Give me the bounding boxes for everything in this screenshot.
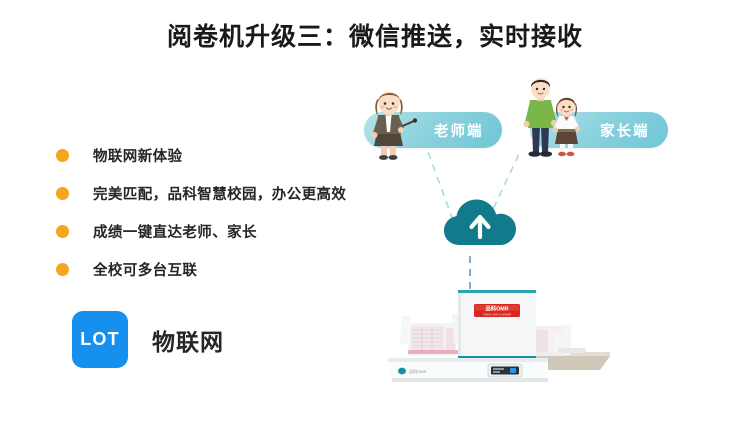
bullet-dot-icon <box>56 149 69 162</box>
parent-and-child-illustration <box>518 78 584 162</box>
svg-text:PINKE OMR SCANNER: PINKE OMR SCANNER <box>483 312 511 316</box>
bullet-text: 成绩一键直达老师、家长 <box>93 221 257 242</box>
omr-scanner-machine: 品科OMR PINKE OMR SCANNER 品科OMR <box>378 278 618 390</box>
bullet-text: 物联网新体验 <box>93 145 182 166</box>
iot-badge-icon: LOT <box>72 311 128 368</box>
iot-badge-text: LOT <box>80 329 120 350</box>
iot-diagram: 老师端 <box>340 60 740 420</box>
svg-text:品科OMR: 品科OMR <box>409 368 426 374</box>
iot-label: 物联网 <box>152 323 224 357</box>
svg-text:品科OMR: 品科OMR <box>485 304 508 312</box>
page-title: 阅卷机升级三：微信推送，实时接收 <box>0 17 750 53</box>
parent-pill-label: 家长端 <box>600 120 650 141</box>
cloud-upload-icon <box>442 193 518 251</box>
bullet-text: 全校可多台互联 <box>93 259 197 280</box>
bullet-list: 物联网新体验 完美匹配，品科智慧校园，办公更高效 成绩一键直达老师、家长 全校可… <box>56 136 386 288</box>
iot-badge-block: LOT 物联网 <box>72 311 224 368</box>
teacher-pill-label: 老师端 <box>434 120 484 141</box>
bullet-dot-icon <box>56 263 69 276</box>
list-item: 完美匹配，品科智慧校园，办公更高效 <box>56 174 386 212</box>
bullet-text: 完美匹配，品科智慧校园，办公更高效 <box>93 183 346 204</box>
slide-root: 阅卷机升级三：微信推送，实时接收 物联网新体验 完美匹配，品科智慧校园，办公更高… <box>0 0 750 433</box>
teacher-female-illustration <box>360 88 418 160</box>
bullet-dot-icon <box>56 187 69 200</box>
bullet-dot-icon <box>56 225 69 238</box>
list-item: 成绩一键直达老师、家长 <box>56 212 386 250</box>
list-item: 物联网新体验 <box>56 136 386 174</box>
list-item: 全校可多台互联 <box>56 250 386 288</box>
